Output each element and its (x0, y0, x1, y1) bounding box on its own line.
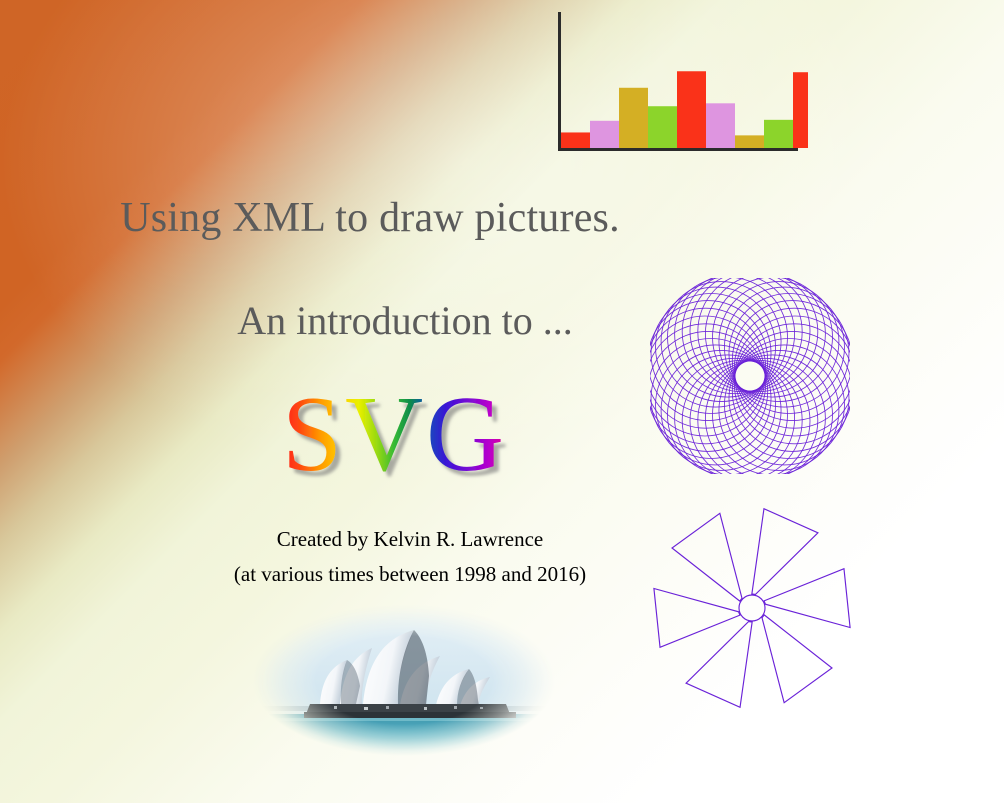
chart-bar (619, 88, 648, 148)
pinwheel-blade (686, 622, 752, 708)
svg-logo-text: SVG (282, 378, 507, 493)
sydney-opera-house (248, 600, 560, 760)
svg-rainbow-logo: SVG (276, 378, 526, 493)
spirograph-circle (682, 278, 802, 392)
spirograph-circle (698, 360, 818, 474)
bar-chart-bars (561, 55, 808, 148)
chart-bar (677, 71, 706, 148)
spirograph-rings (650, 278, 850, 474)
chart-bar (793, 72, 808, 148)
bar-chart (548, 4, 808, 164)
spirograph-circle (690, 361, 810, 474)
spirograph-circle (682, 360, 802, 474)
opera-house-image (248, 600, 560, 760)
pinwheel-blade (764, 569, 850, 628)
slide-canvas: Using XML to draw pictures. An introduct… (0, 0, 1004, 803)
chart-bar (706, 103, 735, 148)
spirograph-circle (698, 278, 818, 392)
opera-house-svg (248, 600, 560, 760)
pinwheel-hub-circle (739, 595, 765, 621)
page-title: Using XML to draw pictures. (0, 196, 740, 240)
pinwheel-blade (752, 509, 818, 595)
spirograph-circle (690, 278, 810, 391)
credit-dates: (at various times between 1998 and 2016) (150, 562, 670, 587)
pinwheel-blade (654, 588, 740, 647)
pinwheel-star (640, 490, 865, 730)
spirograph-circles (650, 278, 850, 474)
pinwheel-blade (672, 513, 742, 601)
chart-bar (648, 106, 677, 148)
credit-author: Created by Kelvin R. Lawrence (150, 527, 670, 552)
chart-bar (561, 132, 590, 148)
chart-bar (735, 135, 764, 148)
pinwheel-blade (762, 615, 832, 703)
pinwheel-blades (654, 509, 850, 708)
bar-chart-svg (548, 4, 808, 164)
svg-logo-svg: SVG (276, 378, 526, 493)
chart-bar (764, 120, 793, 148)
chart-bar (590, 121, 619, 148)
spirograph-svg (650, 278, 850, 474)
pinwheel-svg (640, 490, 865, 730)
